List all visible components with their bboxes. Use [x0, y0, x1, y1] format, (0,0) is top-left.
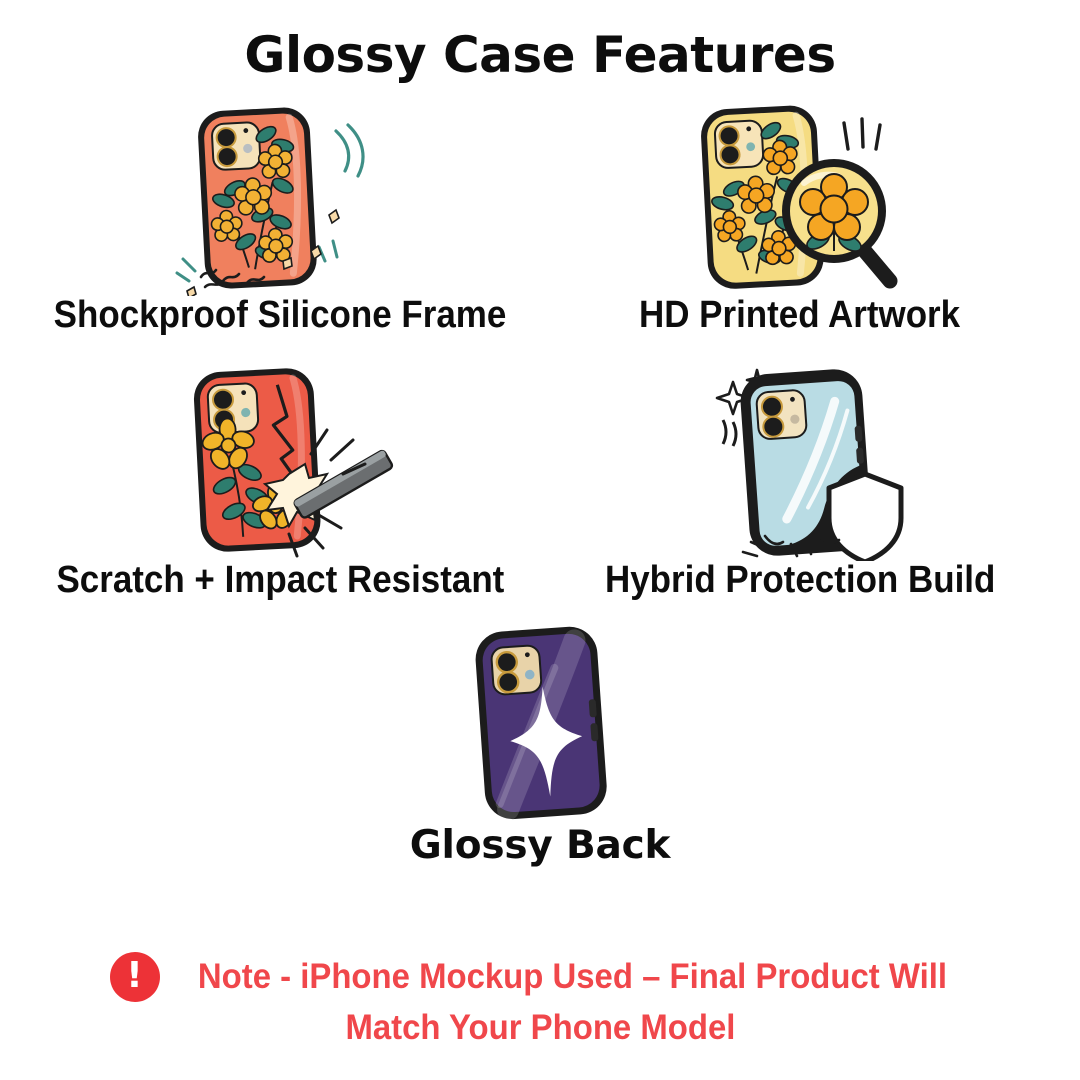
phone-case-bounce-icon: [20, 91, 540, 296]
feature-label: Shockproof Silicone Frame: [54, 296, 507, 336]
feature-hybrid-protection-build: Hybrid Protection Build: [540, 356, 1060, 621]
feature-scratch-impact-resistant: Scratch + Impact Resistant: [20, 356, 540, 621]
feature-label: Scratch + Impact Resistant: [56, 561, 504, 601]
phone-case-blade-strike-icon: [20, 356, 540, 561]
note-text-line-1: Note - iPhone Mockup Used – Final Produc…: [197, 955, 946, 999]
features-grid: Shockproof Silicone Frame: [20, 91, 1060, 886]
phone-case-sparkle-icon: [20, 621, 1060, 826]
exclamation-circle-icon: !: [110, 952, 160, 1002]
page-title: Glossy Case Features: [244, 28, 835, 83]
exclamation-glyph: !: [126, 958, 142, 994]
feature-infographic: Glossy Case Features: [0, 0, 1080, 1080]
phone-case-magnifier-icon: [540, 91, 1060, 296]
feature-hd-printed-artwork: HD Printed Artwork: [540, 91, 1060, 356]
feature-glossy-back: Glossy Back: [20, 621, 1060, 886]
feature-label: Glossy Back: [410, 826, 671, 867]
feature-shockproof-silicone-frame: Shockproof Silicone Frame: [20, 91, 540, 356]
feature-label: Hybrid Protection Build: [605, 561, 995, 601]
note-banner: ! Note - iPhone Mockup Used – Final Prod…: [0, 952, 1080, 1050]
feature-label: HD Printed Artwork: [639, 296, 960, 336]
phone-case-shield-icon: [540, 356, 1060, 561]
note-text-line-2: Match Your Phone Model: [345, 1006, 735, 1050]
